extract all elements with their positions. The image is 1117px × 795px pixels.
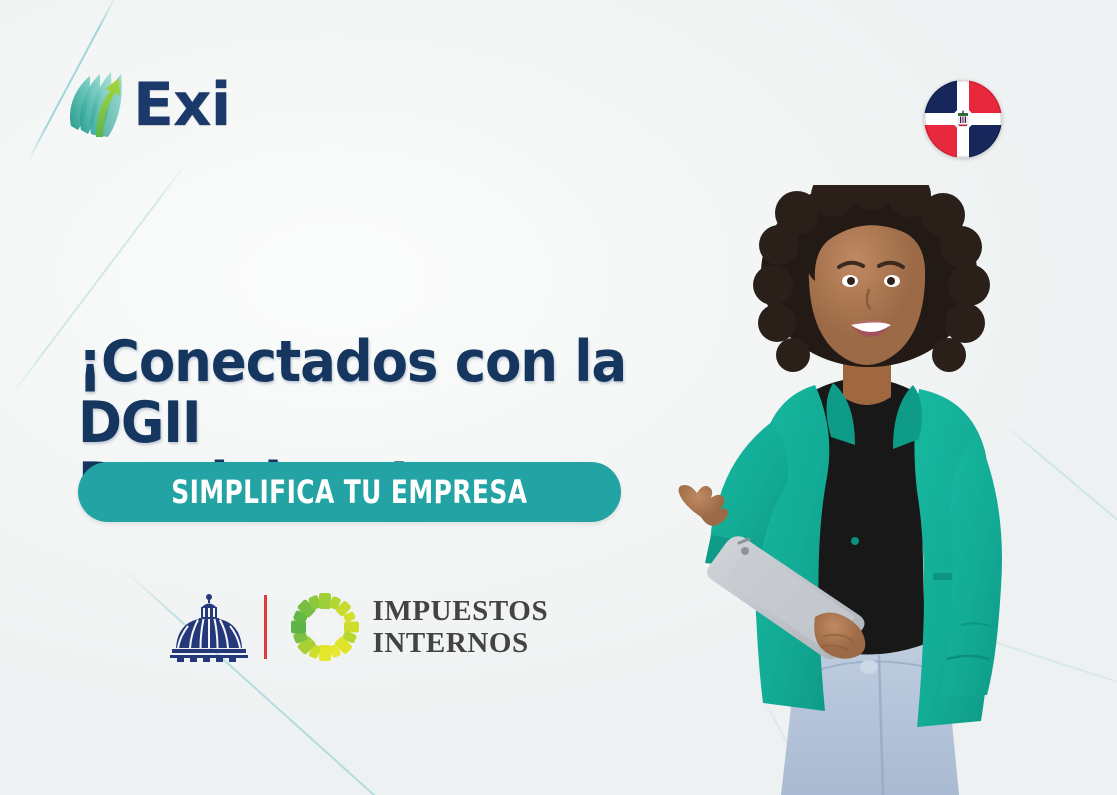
decorative-diagonal-line <box>929 620 1117 693</box>
dgii-dome-icon <box>168 592 250 662</box>
dgii-name-line-1: IMPUESTOS <box>373 595 549 627</box>
dgii-name-line-2: INTERNOS <box>373 627 549 659</box>
exi-logo[interactable]: Exi <box>63 62 243 142</box>
businesswoman-illustration <box>647 185 1117 795</box>
cta-button-label: SIMPLIFICA TU EMPRESA <box>171 473 527 511</box>
dgii-partner-logo: IMPUESTOS INTERNOS <box>168 588 548 666</box>
exi-leaf-arrow-icon <box>63 64 129 140</box>
decorative-diagonal-line <box>758 690 844 795</box>
decorative-diagonal-line <box>999 420 1117 569</box>
headline-line-1: ¡Conectados con la DGII <box>78 332 692 454</box>
dominican-republic-flag-icon <box>924 80 1002 158</box>
exi-wordmark: Exi <box>133 75 230 135</box>
exi-wordmark-text: Exi <box>133 70 230 140</box>
dgii-name: IMPUESTOS INTERNOS <box>373 595 549 660</box>
dgii-sunburst-icon <box>289 591 361 663</box>
promotional-banner: Exi <box>0 0 1117 795</box>
dgii-divider <box>264 595 267 659</box>
simplifica-tu-empresa-button[interactable]: SIMPLIFICA TU EMPRESA <box>78 462 621 522</box>
dominican-republic-flag-badge <box>924 80 1002 158</box>
businesswoman-photo <box>647 185 1117 795</box>
